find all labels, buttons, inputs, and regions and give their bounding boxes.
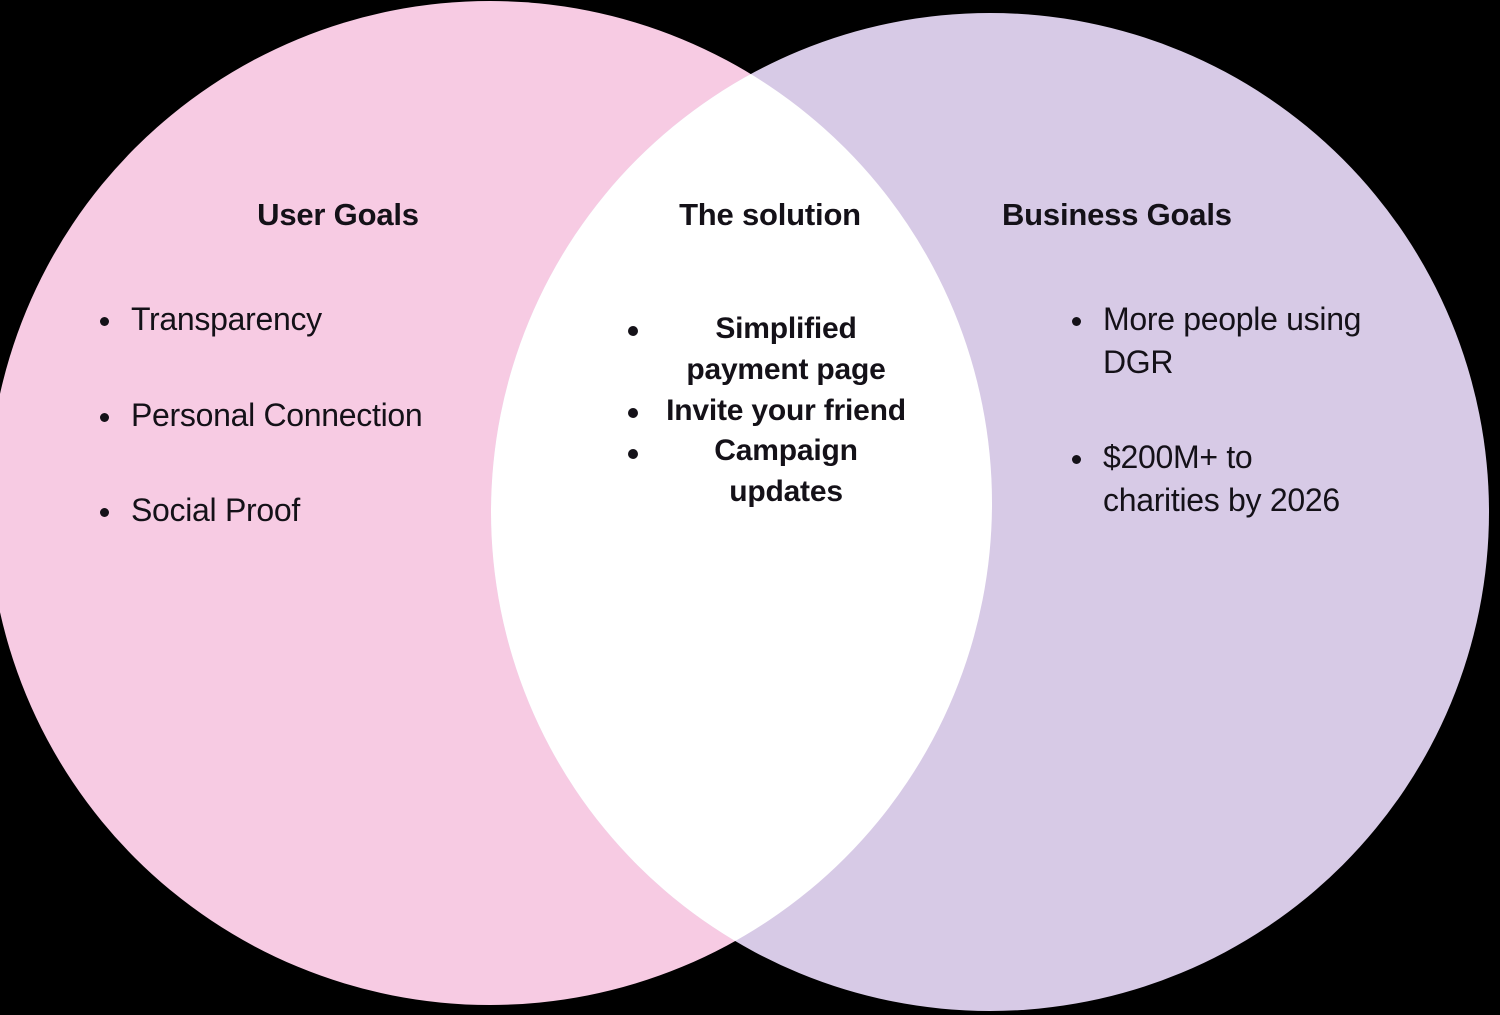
- venn-diagram: User Goals Transparency Personal Connect…: [0, 0, 1500, 1015]
- list-item: Campaign updates: [598, 431, 942, 513]
- list-item: Transparency: [98, 298, 431, 341]
- list-item: Social Proof: [98, 489, 431, 532]
- the-solution-heading: The solution: [598, 198, 942, 232]
- business-goals-bullet-list: More people using DGR $200M+ to charitie…: [960, 298, 1430, 521]
- list-item: Simplified payment page: [598, 309, 942, 391]
- venn-text-layer: User Goals Transparency Personal Connect…: [0, 0, 1500, 1015]
- list-item: Personal Connection: [98, 394, 431, 437]
- business-goals-heading: Business Goals: [960, 198, 1430, 232]
- list-item: Invite your friend: [598, 391, 942, 432]
- venn-section-business-goals: Business Goals More people using DGR $20…: [960, 198, 1430, 521]
- venn-section-user-goals: User Goals Transparency Personal Connect…: [70, 198, 610, 532]
- list-item: $200M+ to charities by 2026: [1070, 436, 1365, 521]
- user-goals-bullet-list: Transparency Personal Connection Social …: [70, 298, 610, 532]
- list-item: More people using DGR: [1070, 298, 1365, 383]
- venn-section-the-solution: The solution Simplified payment page Inv…: [598, 198, 942, 513]
- the-solution-bullet-list: Simplified payment page Invite your frie…: [598, 309, 942, 513]
